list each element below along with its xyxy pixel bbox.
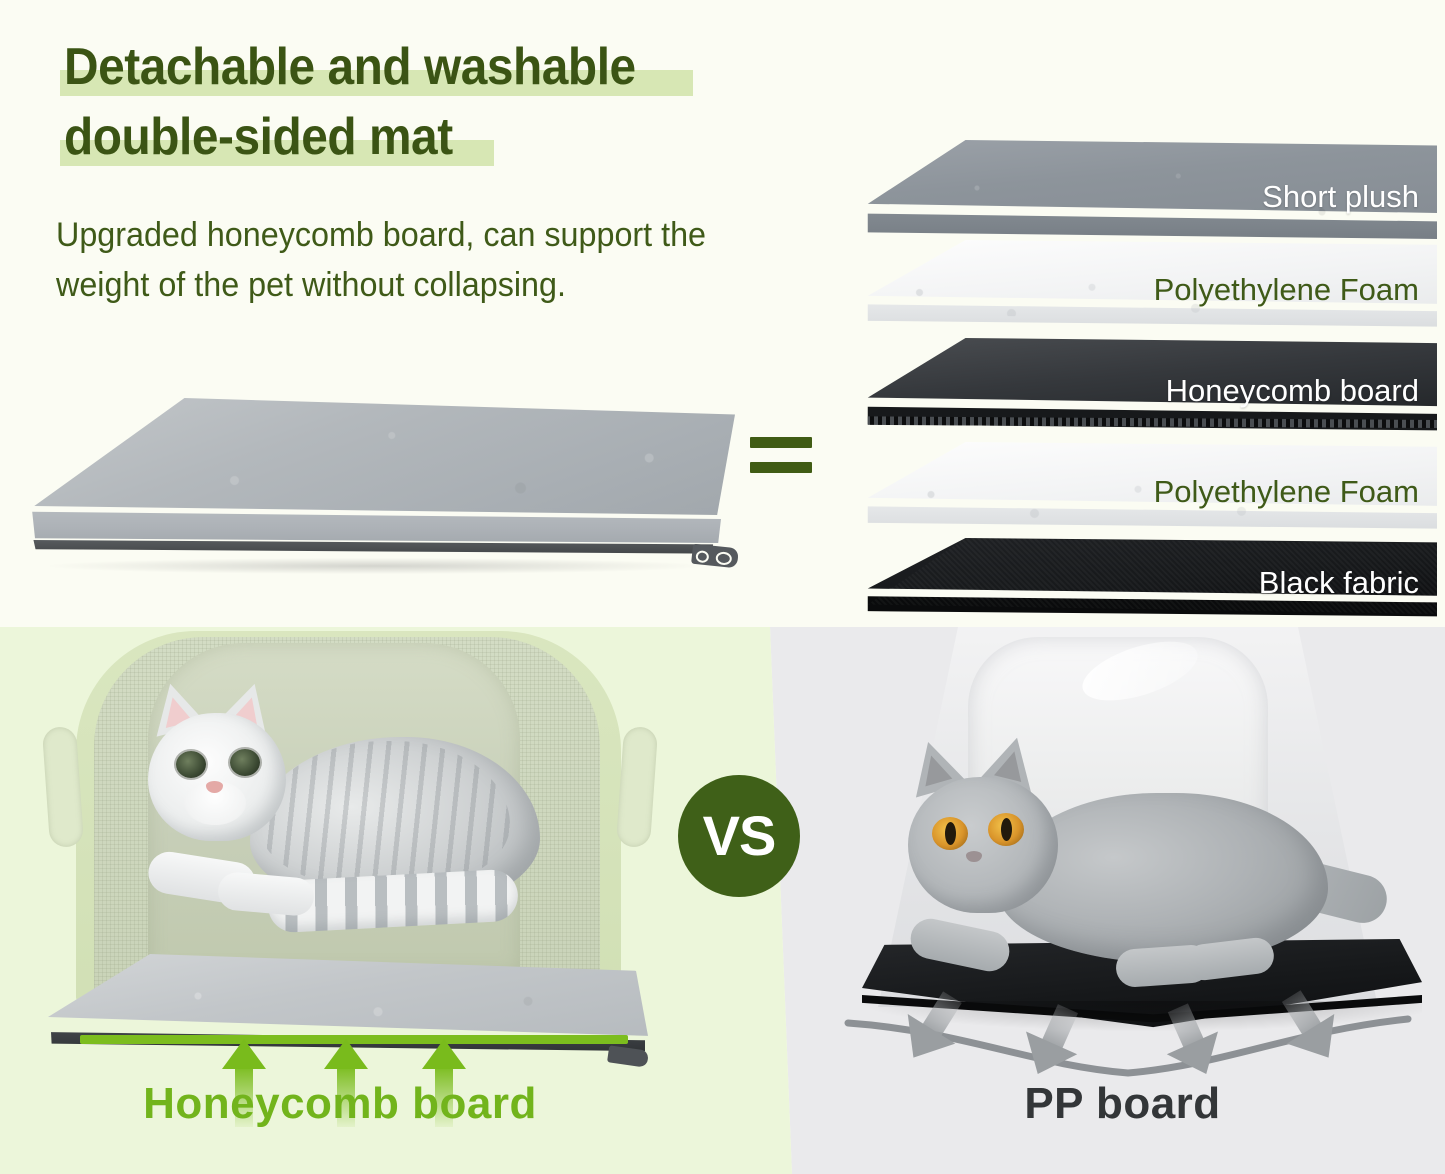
layer-polyethylene-foam-bottom: Polyethylene Foam — [862, 442, 1437, 547]
layer-label-short-plush: Short plush — [1262, 179, 1419, 215]
vs-badge: VS — [678, 775, 800, 897]
title-line-1: Detachable and washable — [60, 36, 693, 100]
equals-bar-bottom — [750, 462, 812, 473]
cat-stripes — [260, 741, 510, 891]
top-section: Detachable and washable double-sided mat… — [0, 0, 1445, 627]
layer-label-honeycomb: Honeycomb board — [1166, 373, 1419, 409]
cat-eye-right — [988, 813, 1024, 846]
title-block: Detachable and washable double-sided mat — [60, 36, 850, 176]
product-mat-image — [20, 398, 735, 588]
subtitle-text: Upgraded honeycomb board, can support th… — [56, 210, 778, 310]
equals-bar-top — [750, 437, 812, 448]
cat-eye-right — [230, 749, 260, 776]
layer-label-foam-top: Polyethylene Foam — [1154, 272, 1419, 308]
mat-shadow — [50, 558, 700, 574]
vs-badge-label: VS — [703, 808, 776, 864]
cat-paw — [217, 871, 316, 917]
equals-sign-icon — [750, 437, 812, 481]
infographic-page: Detachable and washable double-sided mat… — [0, 0, 1445, 1174]
label-pp-board: PP board — [800, 1079, 1445, 1129]
label-honeycomb-board: Honeycomb board — [0, 1079, 680, 1129]
silver-tabby-cat-illustration — [100, 679, 540, 979]
cat-eye-left — [176, 751, 206, 778]
carrier-handle-right — [616, 726, 658, 848]
comparison-panel-left: Honeycomb board — [0, 627, 800, 1174]
mat-body — [20, 398, 735, 570]
title-line-2: double-sided mat — [60, 106, 494, 170]
cat-eye-left — [932, 817, 968, 850]
layer-polyethylene-foam-top: Polyethylene Foam — [862, 240, 1437, 345]
layer-label-foam-bottom: Polyethylene Foam — [1154, 474, 1419, 510]
comparison-section: PP board — [0, 627, 1445, 1174]
layer-honeycomb-board: Honeycomb board — [862, 338, 1437, 450]
page-title-line2: double-sided mat — [64, 106, 453, 168]
page-title-line1: Detachable and washable — [64, 36, 636, 98]
layer-black-fabric: Black fabric — [862, 538, 1437, 633]
layer-label-black-fabric: Black fabric — [1259, 565, 1419, 601]
cat-paw — [907, 915, 1013, 975]
layer-stack-diagram: Short plush Polyethylene Foam Honeycomb … — [862, 140, 1437, 580]
cat-head — [908, 777, 1058, 913]
